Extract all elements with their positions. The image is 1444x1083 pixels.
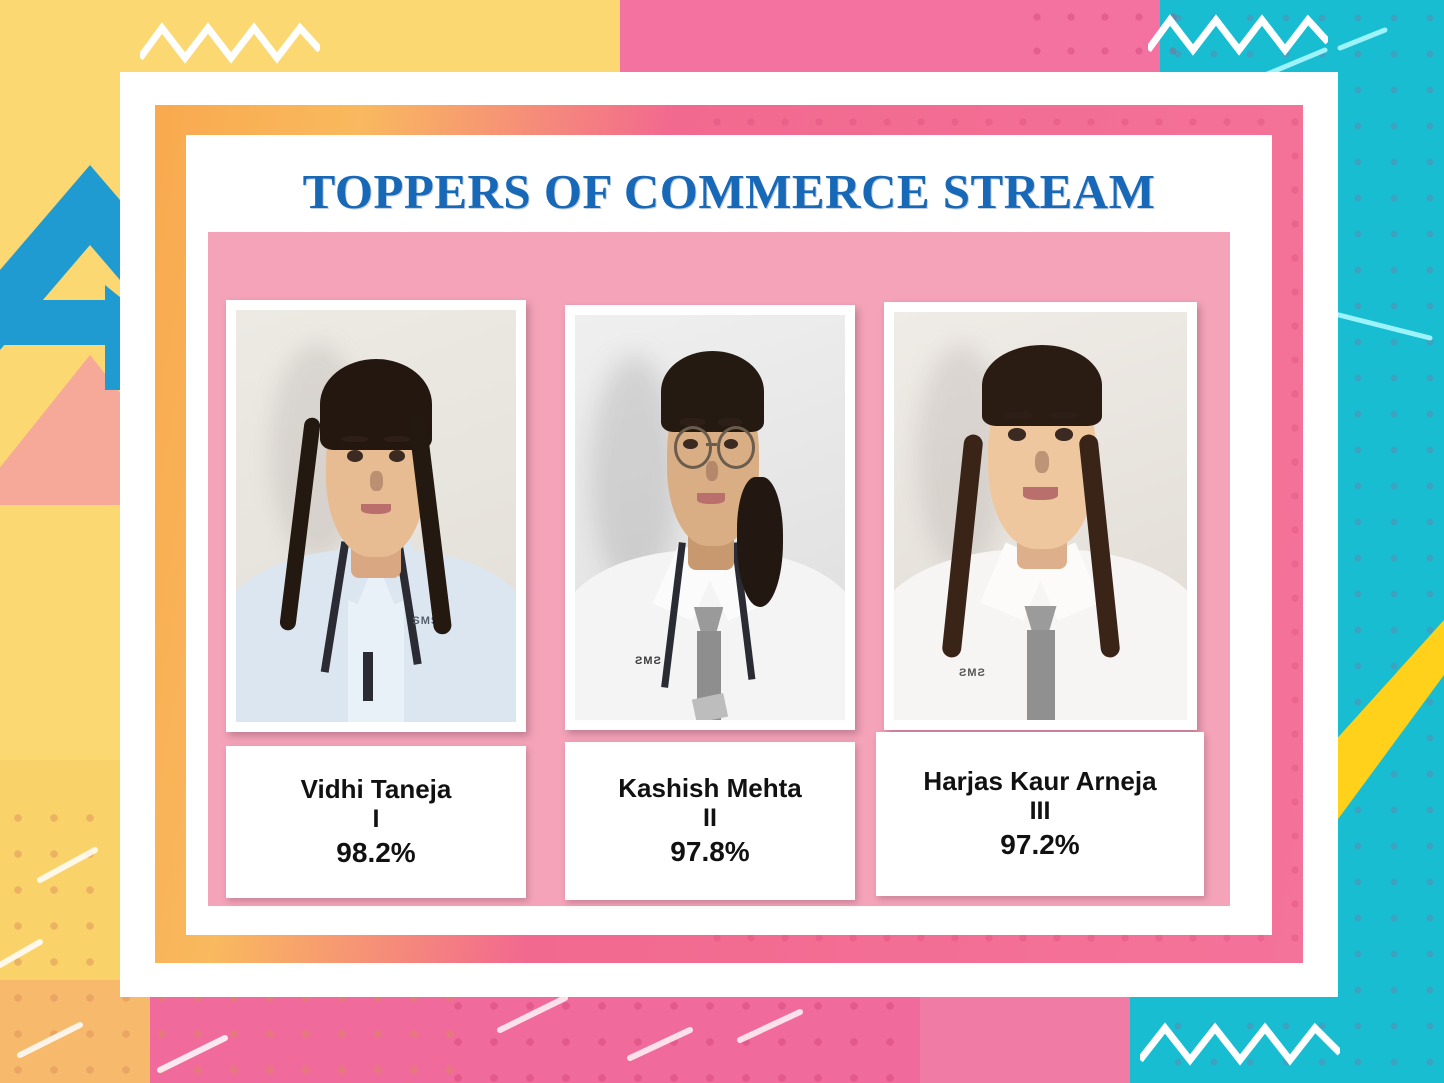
- glasses-bridge-icon: [706, 443, 717, 446]
- hair-2: [661, 351, 764, 432]
- topper-percentage-1: 98.2%: [336, 835, 415, 870]
- brow-right-3: [1049, 412, 1078, 419]
- topper-rank-1: I: [373, 804, 380, 835]
- eye-left-2: [683, 439, 698, 450]
- photo-frame-1: SMS: [226, 300, 526, 732]
- uniform-badge-2: SMS: [634, 655, 661, 667]
- topper-percentage-2: 97.8%: [670, 834, 749, 869]
- eye-right-3: [1055, 428, 1073, 440]
- tie-body-3: [1027, 630, 1055, 720]
- topper-rank-2: II: [703, 803, 717, 834]
- toppers-row: SMS Vidhi Taneja I: [208, 300, 1230, 900]
- nose-1: [370, 471, 383, 492]
- ponytail-2: [737, 477, 783, 607]
- nose-3: [1035, 451, 1050, 473]
- topper-name-3: Harjas Kaur Arneja: [923, 766, 1156, 797]
- nose-2: [706, 461, 718, 481]
- topper-name-1: Vidhi Taneja: [301, 774, 452, 805]
- student-photo-2: SMS: [575, 315, 845, 720]
- brow-left-2: [680, 418, 704, 425]
- white-zigzag-top-left-icon: [140, 18, 320, 68]
- brow-left-3: [1004, 412, 1033, 419]
- page-title: TOPPERS OF COMMERCE STREAM: [303, 163, 1156, 220]
- title-bar: TOPPERS OF COMMERCE STREAM: [186, 150, 1272, 232]
- topper-name-2: Kashish Mehta: [618, 773, 802, 804]
- hair-3: [982, 345, 1102, 427]
- slide-canvas: TOPPERS OF COMMERCE STREAM SMS: [0, 0, 1444, 1083]
- photo-frame-3: SMS: [884, 302, 1197, 730]
- glasses-right-lens-icon: [717, 426, 755, 468]
- white-zigzag-bottom-icon: [1140, 1018, 1340, 1070]
- name-card-3: Harjas Kaur Arneja III 97.2%: [876, 732, 1204, 896]
- name-card-2: Kashish Mehta II 97.8%: [565, 742, 855, 900]
- mouth-1: [361, 504, 392, 515]
- name-card-1: Vidhi Taneja I 98.2%: [226, 746, 526, 898]
- brow-right-1: [384, 436, 409, 443]
- mouth-3: [1023, 487, 1058, 499]
- brow-left-1: [342, 436, 367, 443]
- topper-percentage-3: 97.2%: [1000, 827, 1079, 862]
- brow-right-2: [718, 418, 742, 425]
- photo-frame-2: SMS: [565, 305, 855, 730]
- lanyard-tag-1: [363, 652, 373, 701]
- eye-left-3: [1008, 428, 1026, 440]
- student-photo-1: SMS: [236, 310, 516, 722]
- mouth-2: [697, 493, 725, 504]
- topper-rank-3: III: [1030, 796, 1051, 827]
- uniform-badge-3: SMS: [958, 667, 985, 679]
- student-photo-3: SMS: [894, 312, 1187, 720]
